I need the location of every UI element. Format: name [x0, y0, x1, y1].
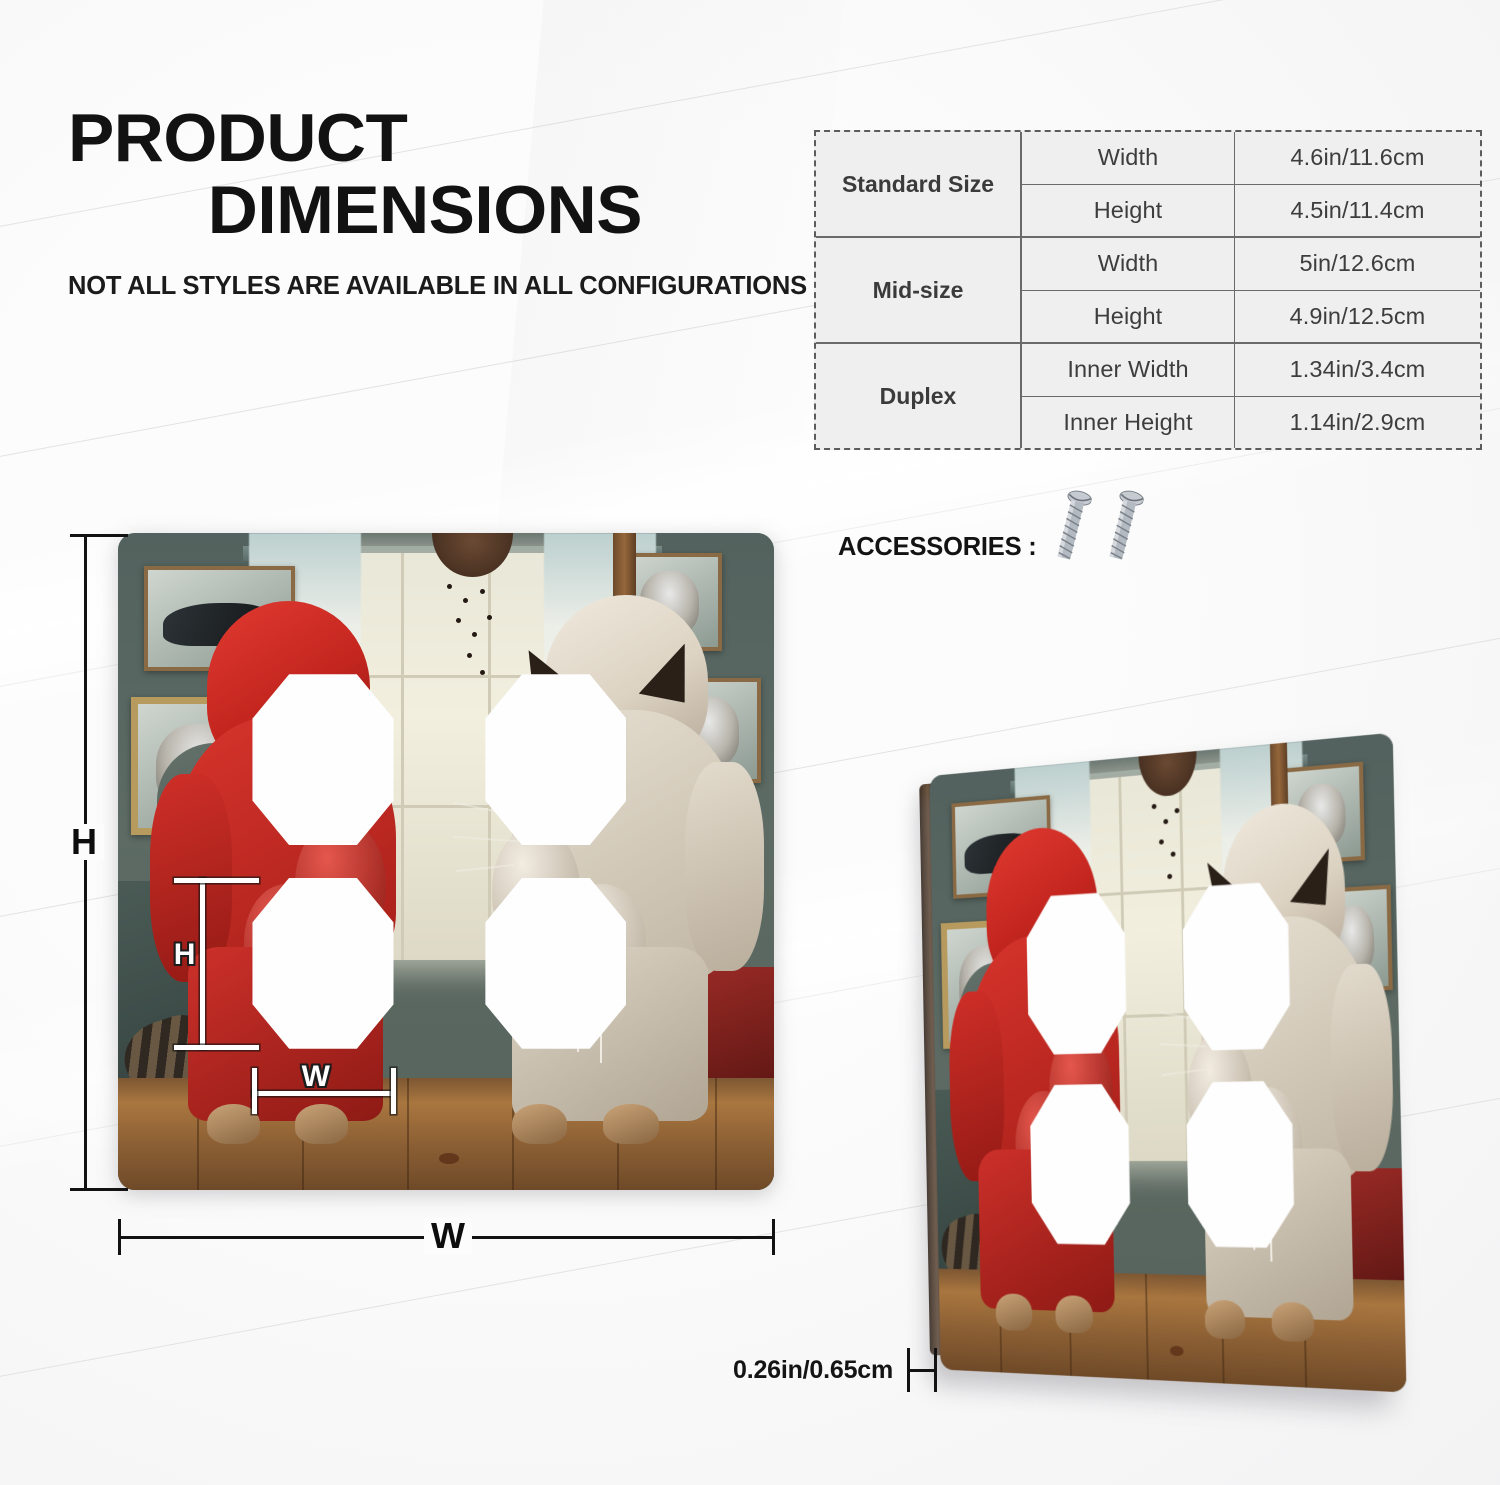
dimensions-table: Standard Size Width 4.6in/11.6cm Height …: [814, 130, 1482, 450]
inner-width-label: W: [302, 1062, 330, 1092]
inner-height-dimension-line: [200, 878, 205, 1049]
outlet-opening-top-left: [1026, 891, 1127, 1055]
table-row: Inner Height 1.14in/2.9cm: [1022, 397, 1480, 449]
table-cell-value: 4.5in/11.4cm: [1235, 185, 1480, 237]
table-cell-value: 1.34in/3.4cm: [1235, 344, 1480, 396]
screws-group: [1051, 504, 1186, 590]
page-subtitle: NOT ALL STYLES ARE AVAILABLE IN ALL CONF…: [68, 272, 828, 301]
thickness-callout: 0.26in/0.65cm: [733, 1348, 937, 1392]
inner-width-cap-left: [252, 1068, 257, 1114]
outer-width-label: W: [424, 1218, 472, 1254]
table-row-group-duplex: Duplex Inner Width 1.34in/3.4cm Inner He…: [816, 344, 1480, 448]
table-row-group-standard: Standard Size Width 4.6in/11.6cm Height …: [816, 132, 1480, 238]
plate-artwork: H W: [118, 533, 774, 1190]
table-cell-label: Inner Height: [1022, 397, 1235, 449]
boxer-figure-cream: [446, 566, 774, 1144]
outlet-opening-bottom-left: [1029, 1084, 1131, 1246]
table-cell-value: 1.14in/2.9cm: [1235, 397, 1480, 449]
table-row-group-midsize: Mid-size Width 5in/12.6cm Height 4.9in/1…: [816, 238, 1480, 344]
outer-height-label: H: [64, 824, 104, 860]
accessories-label: ACCESSORIES :: [838, 533, 1037, 562]
outlet-opening-bottom-left: [252, 878, 393, 1049]
table-group-label: Duplex: [816, 344, 1022, 448]
page-header: PRODUCT DIMENSIONS NOT ALL STYLES ARE AV…: [68, 102, 828, 301]
outlet-opening-bottom-right: [1186, 1081, 1295, 1249]
product-front-view: H W: [118, 533, 774, 1190]
plate-artwork-angled: [930, 733, 1407, 1393]
outlet-opening-bottom-right: [485, 878, 626, 1049]
table-row: Width 4.6in/11.6cm: [1022, 132, 1480, 185]
outlet-opening-top-right: [1182, 881, 1291, 1051]
accessories-section: ACCESSORIES :: [838, 504, 1186, 590]
table-cell-value: 4.6in/11.6cm: [1235, 132, 1480, 184]
table-row: Width 5in/12.6cm: [1022, 238, 1480, 291]
table-group-label: Mid-size: [816, 238, 1022, 342]
table-row: Height 4.5in/11.4cm: [1022, 185, 1480, 237]
boxer-figure-cream: [1149, 766, 1405, 1347]
boxer-figure-red: [934, 787, 1160, 1337]
product-angle-view: [910, 755, 1400, 1380]
page-title-line-2: DIMENSIONS: [68, 174, 843, 246]
table-row: Height 4.9in/12.5cm: [1022, 291, 1480, 343]
thickness-label: 0.26in/0.65cm: [733, 1356, 893, 1385]
boxer-figure-red: [131, 566, 446, 1144]
table-cell-value: 5in/12.6cm: [1235, 238, 1480, 290]
table-cell-label: Height: [1022, 291, 1235, 343]
table-row: Inner Width 1.34in/3.4cm: [1022, 344, 1480, 397]
table-cell-label: Width: [1022, 132, 1235, 184]
thickness-bracket-icon: [907, 1348, 937, 1392]
table-cell-label: Width: [1022, 238, 1235, 290]
inner-height-label: H: [174, 940, 196, 970]
outlet-opening-top-right: [485, 674, 626, 845]
inner-height-cap-top: [174, 878, 259, 883]
table-group-label: Standard Size: [816, 132, 1022, 236]
table-cell-label: Inner Width: [1022, 344, 1235, 396]
table-cell-label: Height: [1022, 185, 1235, 237]
inner-width-cap-right: [391, 1068, 396, 1114]
page-title-line-1: PRODUCT: [68, 102, 843, 174]
table-cell-value: 4.9in/12.5cm: [1235, 291, 1480, 343]
inner-height-cap-bottom: [174, 1045, 259, 1050]
outlet-opening-top-left: [252, 674, 393, 845]
